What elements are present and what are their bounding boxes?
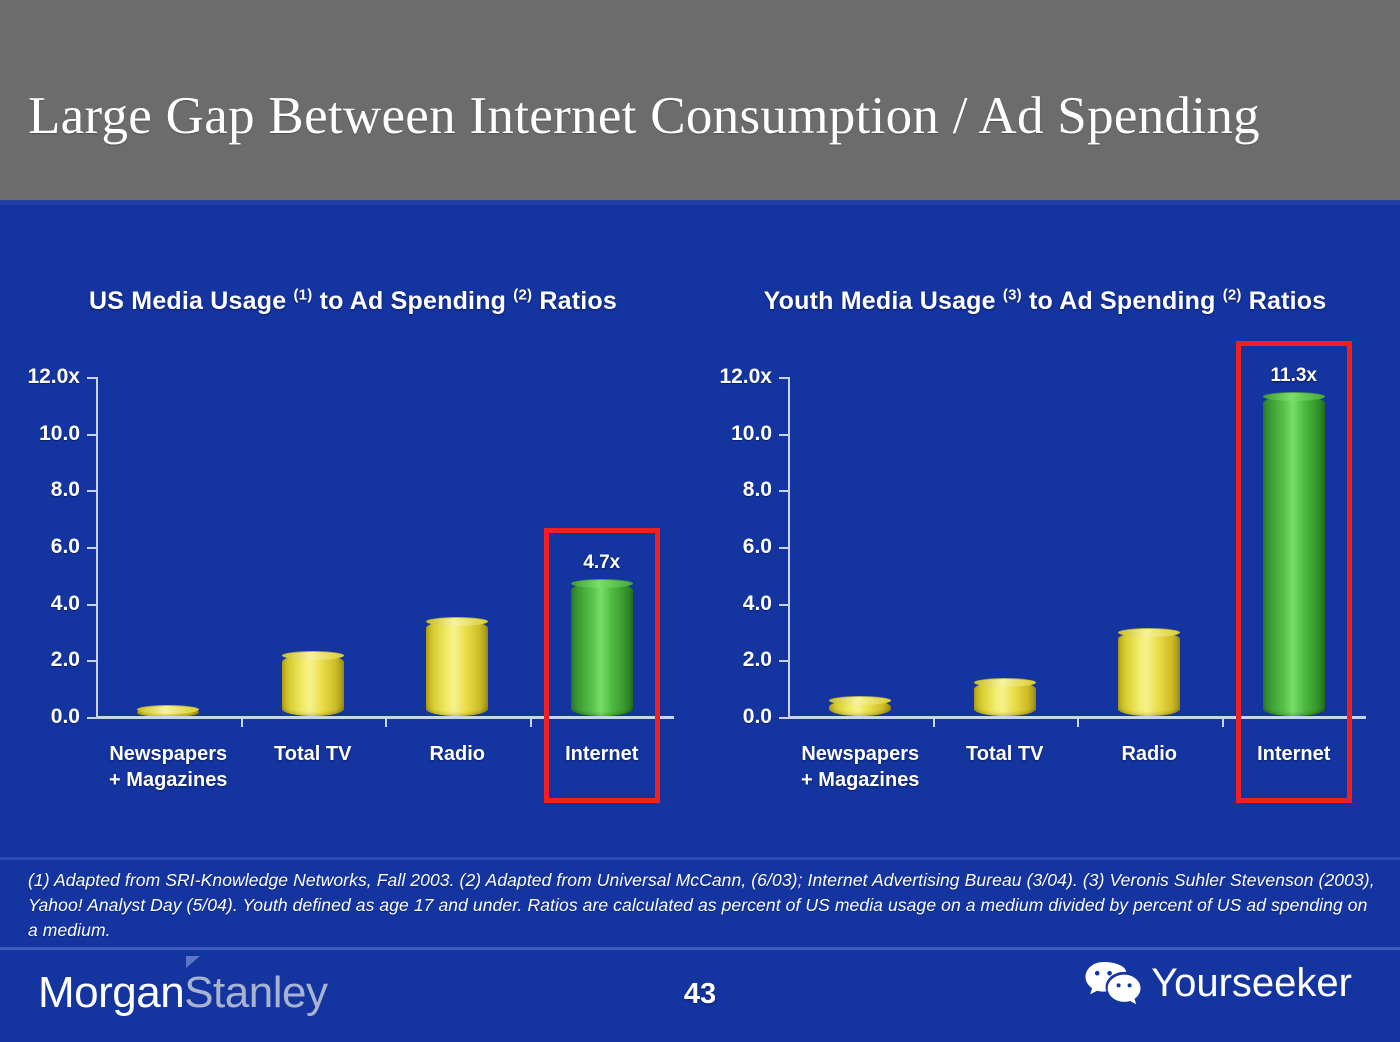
y-axis-tick <box>779 604 789 606</box>
footnote-marker-2: (2) <box>1223 287 1242 304</box>
chart-title-part-2: to Ad Spending <box>1022 287 1223 315</box>
x-axis-tick <box>1077 718 1079 727</box>
wechat-bubbles-icon <box>1083 960 1141 1006</box>
y-axis-tick <box>87 717 97 719</box>
bar-category-0 <box>137 709 199 716</box>
y-axis-label: 10.0 <box>39 422 80 446</box>
y-axis-label: 0.0 <box>51 705 80 729</box>
bar-category-1 <box>282 655 344 716</box>
y-axis-tick <box>779 547 789 549</box>
chart-title-part-2: to Ad Spending <box>312 287 513 315</box>
header-underline <box>0 200 1400 205</box>
chart-title-part-1: US Media Usage <box>89 287 293 315</box>
x-axis-category-label: Newspapers + Magazines <box>109 741 227 793</box>
bar-cap <box>1263 392 1325 401</box>
chart-panel-youth-media: Youth Media Usage (3) to Ad Spending (2)… <box>700 255 1390 815</box>
x-axis-tick <box>385 718 387 727</box>
y-axis-label: 8.0 <box>743 478 772 502</box>
x-axis-tick <box>241 718 243 727</box>
chart-panel-us-media: US Media Usage (1) to Ad Spending (2) Ra… <box>8 255 698 815</box>
y-axis-label: 2.0 <box>743 648 772 672</box>
y-axis-tick <box>87 660 97 662</box>
bar-cap <box>137 705 199 714</box>
x-axis-tick <box>530 718 532 727</box>
x-axis-tick <box>933 718 935 727</box>
chart-title-us-media: US Media Usage (1) to Ad Spending (2) Ra… <box>8 283 698 319</box>
x-axis-category-label: Radio <box>1121 741 1177 767</box>
y-axis-label: 4.0 <box>743 592 772 616</box>
y-axis-label: 12.0x <box>27 365 80 389</box>
y-axis-tick <box>87 434 97 436</box>
morgan-stanley-triangle-icon <box>186 956 200 968</box>
plot-area-youth-media: 0.02.04.06.08.010.012.0xNewspapers + Mag… <box>788 377 1366 717</box>
footnote-marker-3: (3) <box>1003 287 1022 304</box>
bar-internet <box>571 583 633 716</box>
bar-category-2 <box>426 621 488 716</box>
slide-footer: MorganStanley 43 Yourseeker <box>0 950 1400 1042</box>
y-axis-tick <box>87 547 97 549</box>
plot-area-us-media: 0.02.04.06.08.010.012.0xNewspapers + Mag… <box>96 377 674 717</box>
footnote-text: (1) Adapted from SRI-Knowledge Networks,… <box>28 868 1376 943</box>
footnote-marker-2: (2) <box>513 287 532 304</box>
footnote-divider-top <box>0 857 1400 860</box>
y-axis-tick <box>87 490 97 492</box>
y-axis-label: 0.0 <box>743 705 772 729</box>
footnote-marker-1: (1) <box>293 287 312 304</box>
chart-title-part-3: Ratios <box>1242 287 1327 315</box>
bar-cap <box>571 579 633 588</box>
page-title: Large Gap Between Internet Consumption /… <box>28 86 1260 146</box>
bar-cap <box>829 696 891 705</box>
y-axis-tick <box>779 377 789 379</box>
bar-internet <box>1263 396 1325 716</box>
y-axis-label: 10.0 <box>731 422 772 446</box>
y-axis-label: 6.0 <box>743 535 772 559</box>
y-axis-tick <box>779 660 789 662</box>
bar-value-label: 4.7x <box>583 552 620 574</box>
x-axis-category-label: Total TV <box>274 741 351 767</box>
bar-value-label: 11.3x <box>1271 365 1318 387</box>
bar-category-2 <box>1118 632 1180 716</box>
y-axis-label: 12.0x <box>719 365 772 389</box>
x-axis-category-label: Internet <box>1257 741 1330 767</box>
chart-title-youth-media: Youth Media Usage (3) to Ad Spending (2)… <box>700 283 1390 319</box>
bar-cap <box>426 617 488 626</box>
slide-header-band: Large Gap Between Internet Consumption /… <box>0 0 1400 200</box>
y-axis-tick <box>779 717 789 719</box>
bar-cap <box>974 678 1036 687</box>
x-axis-category-label: Radio <box>429 741 485 767</box>
bar-category-0 <box>829 700 891 716</box>
y-axis-label: 4.0 <box>51 592 80 616</box>
x-axis-category-label: Total TV <box>966 741 1043 767</box>
y-axis-tick <box>87 377 97 379</box>
yourseeker-label: Yourseeker <box>1151 961 1352 1006</box>
y-axis-label: 2.0 <box>51 648 80 672</box>
x-axis-tick <box>1222 718 1224 727</box>
bar-category-1 <box>974 682 1036 716</box>
y-axis-tick <box>779 434 789 436</box>
y-axis-label: 6.0 <box>51 535 80 559</box>
chart-title-part-1: Youth Media Usage <box>764 287 1003 315</box>
y-axis-tick <box>87 604 97 606</box>
yourseeker-logo: Yourseeker <box>1083 960 1352 1006</box>
x-axis-category-label: Internet <box>565 741 638 767</box>
y-axis-tick <box>779 490 789 492</box>
y-axis-label: 8.0 <box>51 478 80 502</box>
bar-cap <box>282 651 344 660</box>
bar-cap <box>1118 628 1180 637</box>
chart-title-part-3: Ratios <box>532 287 617 315</box>
x-axis-category-label: Newspapers + Magazines <box>801 741 919 793</box>
slide-root: Large Gap Between Internet Consumption /… <box>0 0 1400 1042</box>
